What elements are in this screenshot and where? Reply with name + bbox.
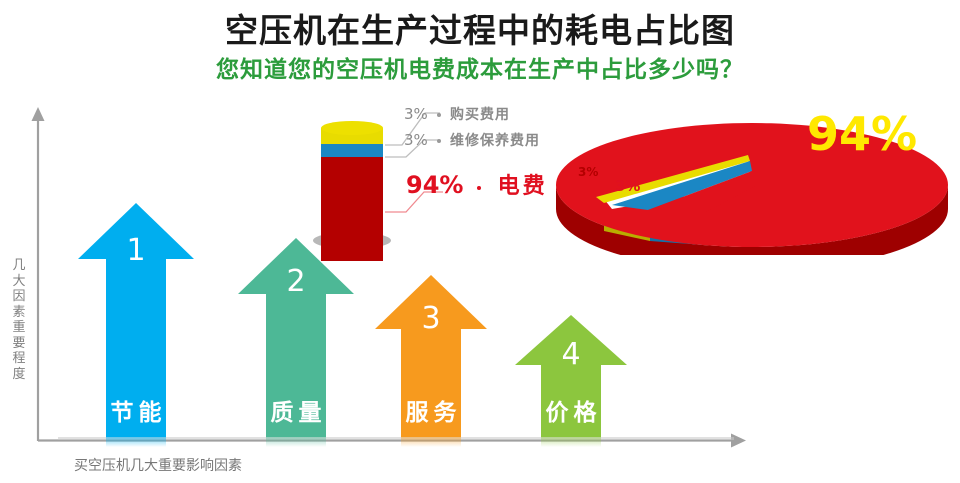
callout-maintenance-dot [437,139,441,143]
factor-arrow-4[interactable]: 4 价格 [515,315,627,437]
callout-purchase-percent: 3% [404,105,428,123]
stacked-cylinder-chart[interactable] [321,127,383,242]
factor-arrow-1[interactable]: 1 节能 [78,203,194,437]
pie-label-3-purchase: 3% [578,165,598,179]
callout-maintenance-percent: 3% [404,131,428,149]
callout-purchase-label: 购买费用 [450,107,510,123]
factor-label-3: 服务 [375,393,487,427]
callout-electricity: 94% 电费 [406,168,548,200]
callout-purchase-dot [437,113,441,117]
factor-rank-4: 4 [515,337,627,372]
infographic-canvas: 空压机在生产过程中的耗电占比图 您知道您的空压机电费成本在生产中占比多少吗？ 几… [0,0,960,483]
callout-electricity-dot [477,186,481,190]
callout-electricity-percent: 94% [406,171,463,199]
cylinder-segment-electricity [321,153,383,261]
callout-electricity-label: 电费 [498,174,548,199]
factor-rank-2: 2 [238,264,354,299]
x-axis-label: 买空压机几大重要影响因素 [74,455,242,475]
arrow-reflection-1 [78,437,194,447]
factor-label-4: 价格 [515,393,627,427]
factor-label-1: 节能 [78,393,194,427]
arrow-reflection-3 [375,437,487,447]
pie-label-3-maintenance: 3% [615,177,640,195]
factor-rank-1: 1 [78,233,194,268]
pie-chart[interactable]: 94% 3% 3% [552,115,952,255]
factor-arrow-2[interactable]: 2 质量 [238,238,354,437]
pie-label-94: 94% [807,107,917,161]
y-axis-label: 几大因素重要程度 [8,258,30,382]
callout-maintenance-label: 维修保养费用 [450,133,540,149]
callout-maintenance: 3% 维修保养费用 [404,130,540,150]
arrow-reflection-2 [238,437,354,447]
callout-purchase: 3% 购买费用 [404,104,510,124]
cylinder-top-ellipse [321,121,383,135]
factor-label-2: 质量 [238,393,354,427]
factor-arrow-3[interactable]: 3 服务 [375,275,487,437]
arrow-reflection-4 [515,437,627,447]
factor-rank-3: 3 [375,301,487,336]
